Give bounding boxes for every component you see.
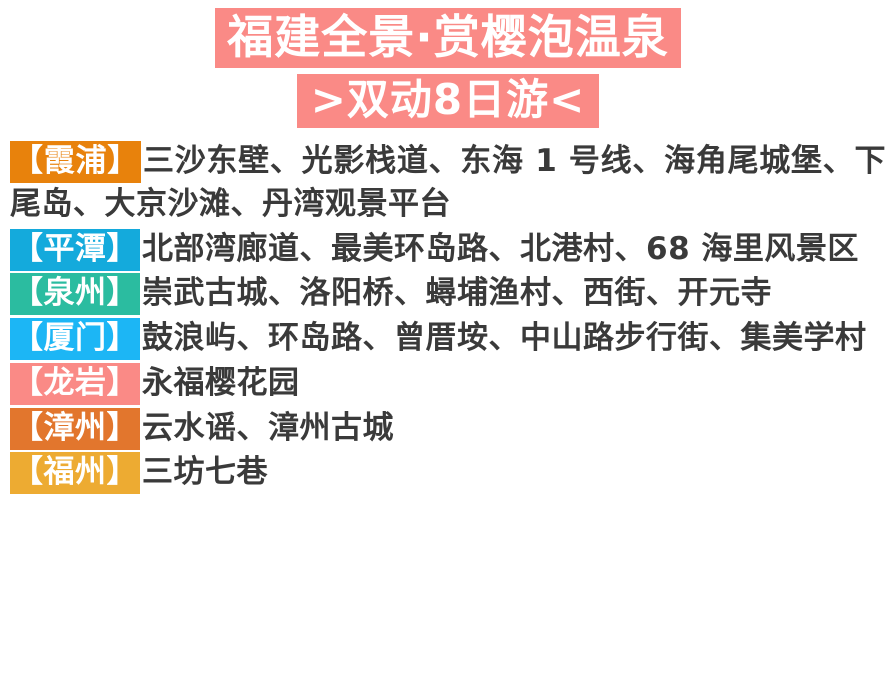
destination-spots-xiamen: 鼓浪屿、环岛路、曾厝垵、中山路步行街、集美学村	[142, 320, 867, 356]
itinerary-line: 【龙岩】永福樱花园	[10, 362, 886, 405]
poster-title-secondary: >双动8日游<	[297, 74, 600, 128]
poster-title-line-2: >双动8日游<	[0, 74, 896, 128]
destination-spots-fuzhou: 三坊七巷	[142, 454, 268, 490]
destination-tag-pingtan: 【平潭】	[10, 229, 140, 271]
destination-tag-fuzhou: 【福州】	[10, 452, 140, 494]
itinerary-line: 【福州】三坊七巷	[10, 451, 886, 494]
destination-spots-pingtan: 北部湾廊道、最美环岛路、北港村、68 海里风景区	[142, 231, 859, 267]
destination-tag-longyan: 【龙岩】	[10, 363, 140, 405]
travel-itinerary-poster: 福建全景·赏樱泡温泉 >双动8日游< 【霞浦】三沙东壁、光影栈道、东海 1 号线…	[0, 0, 896, 678]
itinerary-line: 【厦门】鼓浪屿、环岛路、曾厝垵、中山路步行街、集美学村	[10, 317, 886, 360]
itinerary-list: 【霞浦】三沙东壁、光影栈道、东海 1 号线、海角尾城堡、下尾岛、大京沙滩、丹湾观…	[0, 128, 896, 494]
destination-spots-quanzhou: 崇武古城、洛阳桥、蟳埔渔村、西街、开元寺	[142, 275, 772, 311]
poster-title-block: 福建全景·赏樱泡温泉 >双动8日游<	[0, 0, 896, 128]
destination-tag-quanzhou: 【泉州】	[10, 273, 140, 315]
destination-spots-longyan: 永福樱花园	[142, 365, 300, 401]
destination-tag-zhangzhou: 【漳州】	[10, 408, 140, 450]
itinerary-line: 【泉州】崇武古城、洛阳桥、蟳埔渔村、西街、开元寺	[10, 272, 886, 315]
itinerary-line: 【平潭】北部湾廊道、最美环岛路、北港村、68 海里风景区	[10, 228, 886, 271]
destination-spots-xiapu: 三沙东壁、光影栈道、东海 1 号线、海角尾城堡、下尾岛、大京沙滩、丹湾观景平台	[10, 143, 886, 222]
destination-tag-xiapu: 【霞浦】	[10, 141, 141, 183]
poster-title-primary: 福建全景·赏樱泡温泉	[215, 8, 680, 68]
itinerary-line: 【霞浦】三沙东壁、光影栈道、东海 1 号线、海角尾城堡、下尾岛、大京沙滩、丹湾观…	[10, 140, 886, 226]
destination-spots-zhangzhou: 云水谣、漳州古城	[142, 410, 394, 446]
destination-tag-xiamen: 【厦门】	[10, 318, 140, 360]
itinerary-line: 【漳州】云水谣、漳州古城	[10, 407, 886, 450]
poster-title-line-1: 福建全景·赏樱泡温泉	[0, 8, 896, 68]
